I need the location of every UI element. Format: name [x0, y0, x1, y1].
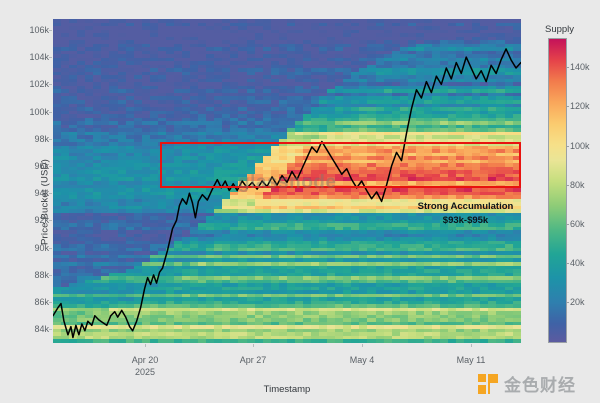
chart-root: Price Bucket (USD) 84k86k88k90k92k94k96k…: [0, 0, 600, 403]
